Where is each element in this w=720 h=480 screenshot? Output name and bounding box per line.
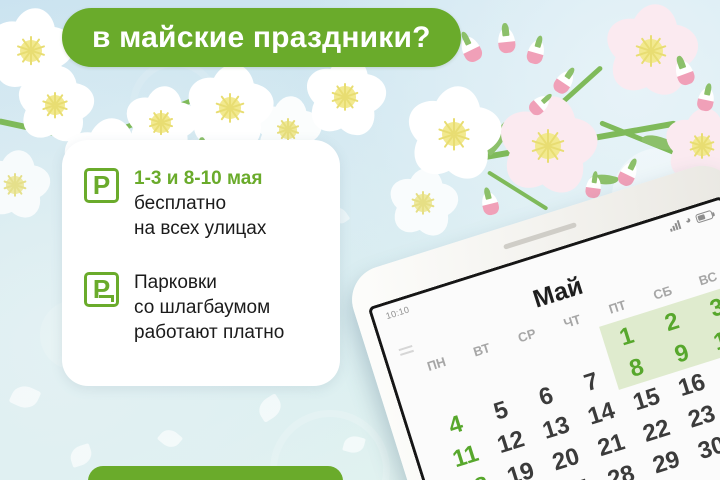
status-clock: 10:10 <box>385 304 411 321</box>
info-line: 1-3 и 8-10 мая <box>134 166 266 191</box>
cellular-signal-icon <box>668 219 682 231</box>
info-line: со шлагбаумом <box>134 295 284 320</box>
bottom-accent-bar <box>88 466 343 480</box>
blossom-flower <box>498 96 598 196</box>
battery-icon <box>695 209 714 223</box>
info-line: Парковки <box>134 270 284 295</box>
blossom-bud <box>585 175 603 199</box>
info-row-text: 1-3 и 8-10 мая бесплатно на всех улицах <box>134 166 266 241</box>
bud-tip <box>498 41 516 54</box>
blossom-flower <box>0 150 50 220</box>
parking-letter: P <box>87 169 116 202</box>
poster-canvas: 10:10 ◕ Май ПН ВТ СР ЧТ ПТ СБ ВС <box>0 0 720 480</box>
info-line: на всех улицах <box>134 216 266 241</box>
parking-sign-icon: P <box>84 168 119 203</box>
info-card: P 1-3 и 8-10 мая бесплатно на всех улица… <box>62 140 340 386</box>
info-row-free-parking: P 1-3 и 8-10 мая бесплатно на всех улица… <box>84 166 266 241</box>
barrier-post <box>111 295 114 302</box>
headline-banner: в майские праздники? <box>62 8 461 67</box>
blossom-flower <box>388 168 458 238</box>
blossom-flower <box>304 56 386 138</box>
info-line: работают платно <box>134 320 284 345</box>
info-row-text: Парковки со шлагбаумом работают платно <box>134 270 284 345</box>
wifi-icon: ◕ <box>684 215 693 226</box>
blossom-bud <box>497 27 517 54</box>
info-line: бесплатно <box>134 191 266 216</box>
headline-text: в майские праздники? <box>92 21 431 55</box>
parking-barrier-sign-icon: P <box>84 272 119 307</box>
info-row-barrier-parking: P Парковки со шлагбаумом работают платно <box>84 270 284 345</box>
